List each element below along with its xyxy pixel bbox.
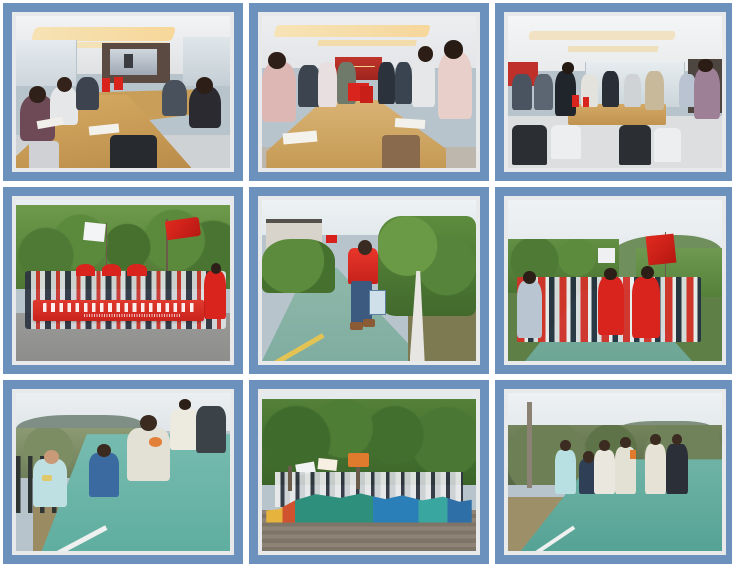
photo-gallery-grid <box>0 0 732 565</box>
photo-image-3[interactable] <box>508 16 722 168</box>
photo-cell-1[interactable] <box>0 0 246 184</box>
photo-frame-6 <box>495 187 732 374</box>
photo-image-6[interactable] <box>508 200 722 361</box>
photo-cell-4[interactable] <box>0 184 246 377</box>
photo-frame-4 <box>3 187 243 374</box>
photo-frame-1 <box>3 3 243 181</box>
photo-cell-8[interactable] <box>246 377 492 567</box>
photo-frame-2 <box>249 3 489 181</box>
photo-image-2[interactable] <box>262 16 476 168</box>
photo-cell-6[interactable] <box>492 184 732 377</box>
photo-image-7[interactable] <box>16 393 230 551</box>
photo-frame-3 <box>495 3 732 181</box>
photo-cell-2[interactable] <box>246 0 492 184</box>
photo-cell-7[interactable] <box>0 377 246 567</box>
photo-image-9[interactable] <box>508 393 722 551</box>
photo-image-8[interactable] <box>262 393 476 551</box>
photo-image-4[interactable] <box>16 200 230 361</box>
photo-cell-3[interactable] <box>492 0 732 184</box>
photo-image-5[interactable] <box>262 200 476 361</box>
banner-4 <box>33 300 204 321</box>
photo-cell-5[interactable] <box>246 184 492 377</box>
photo-frame-7 <box>3 380 243 564</box>
photo-cell-9[interactable] <box>492 377 732 567</box>
photo-image-1[interactable] <box>16 16 230 168</box>
photo-frame-5 <box>249 187 489 374</box>
photo-frame-9 <box>495 380 732 564</box>
photo-frame-8 <box>249 380 489 564</box>
